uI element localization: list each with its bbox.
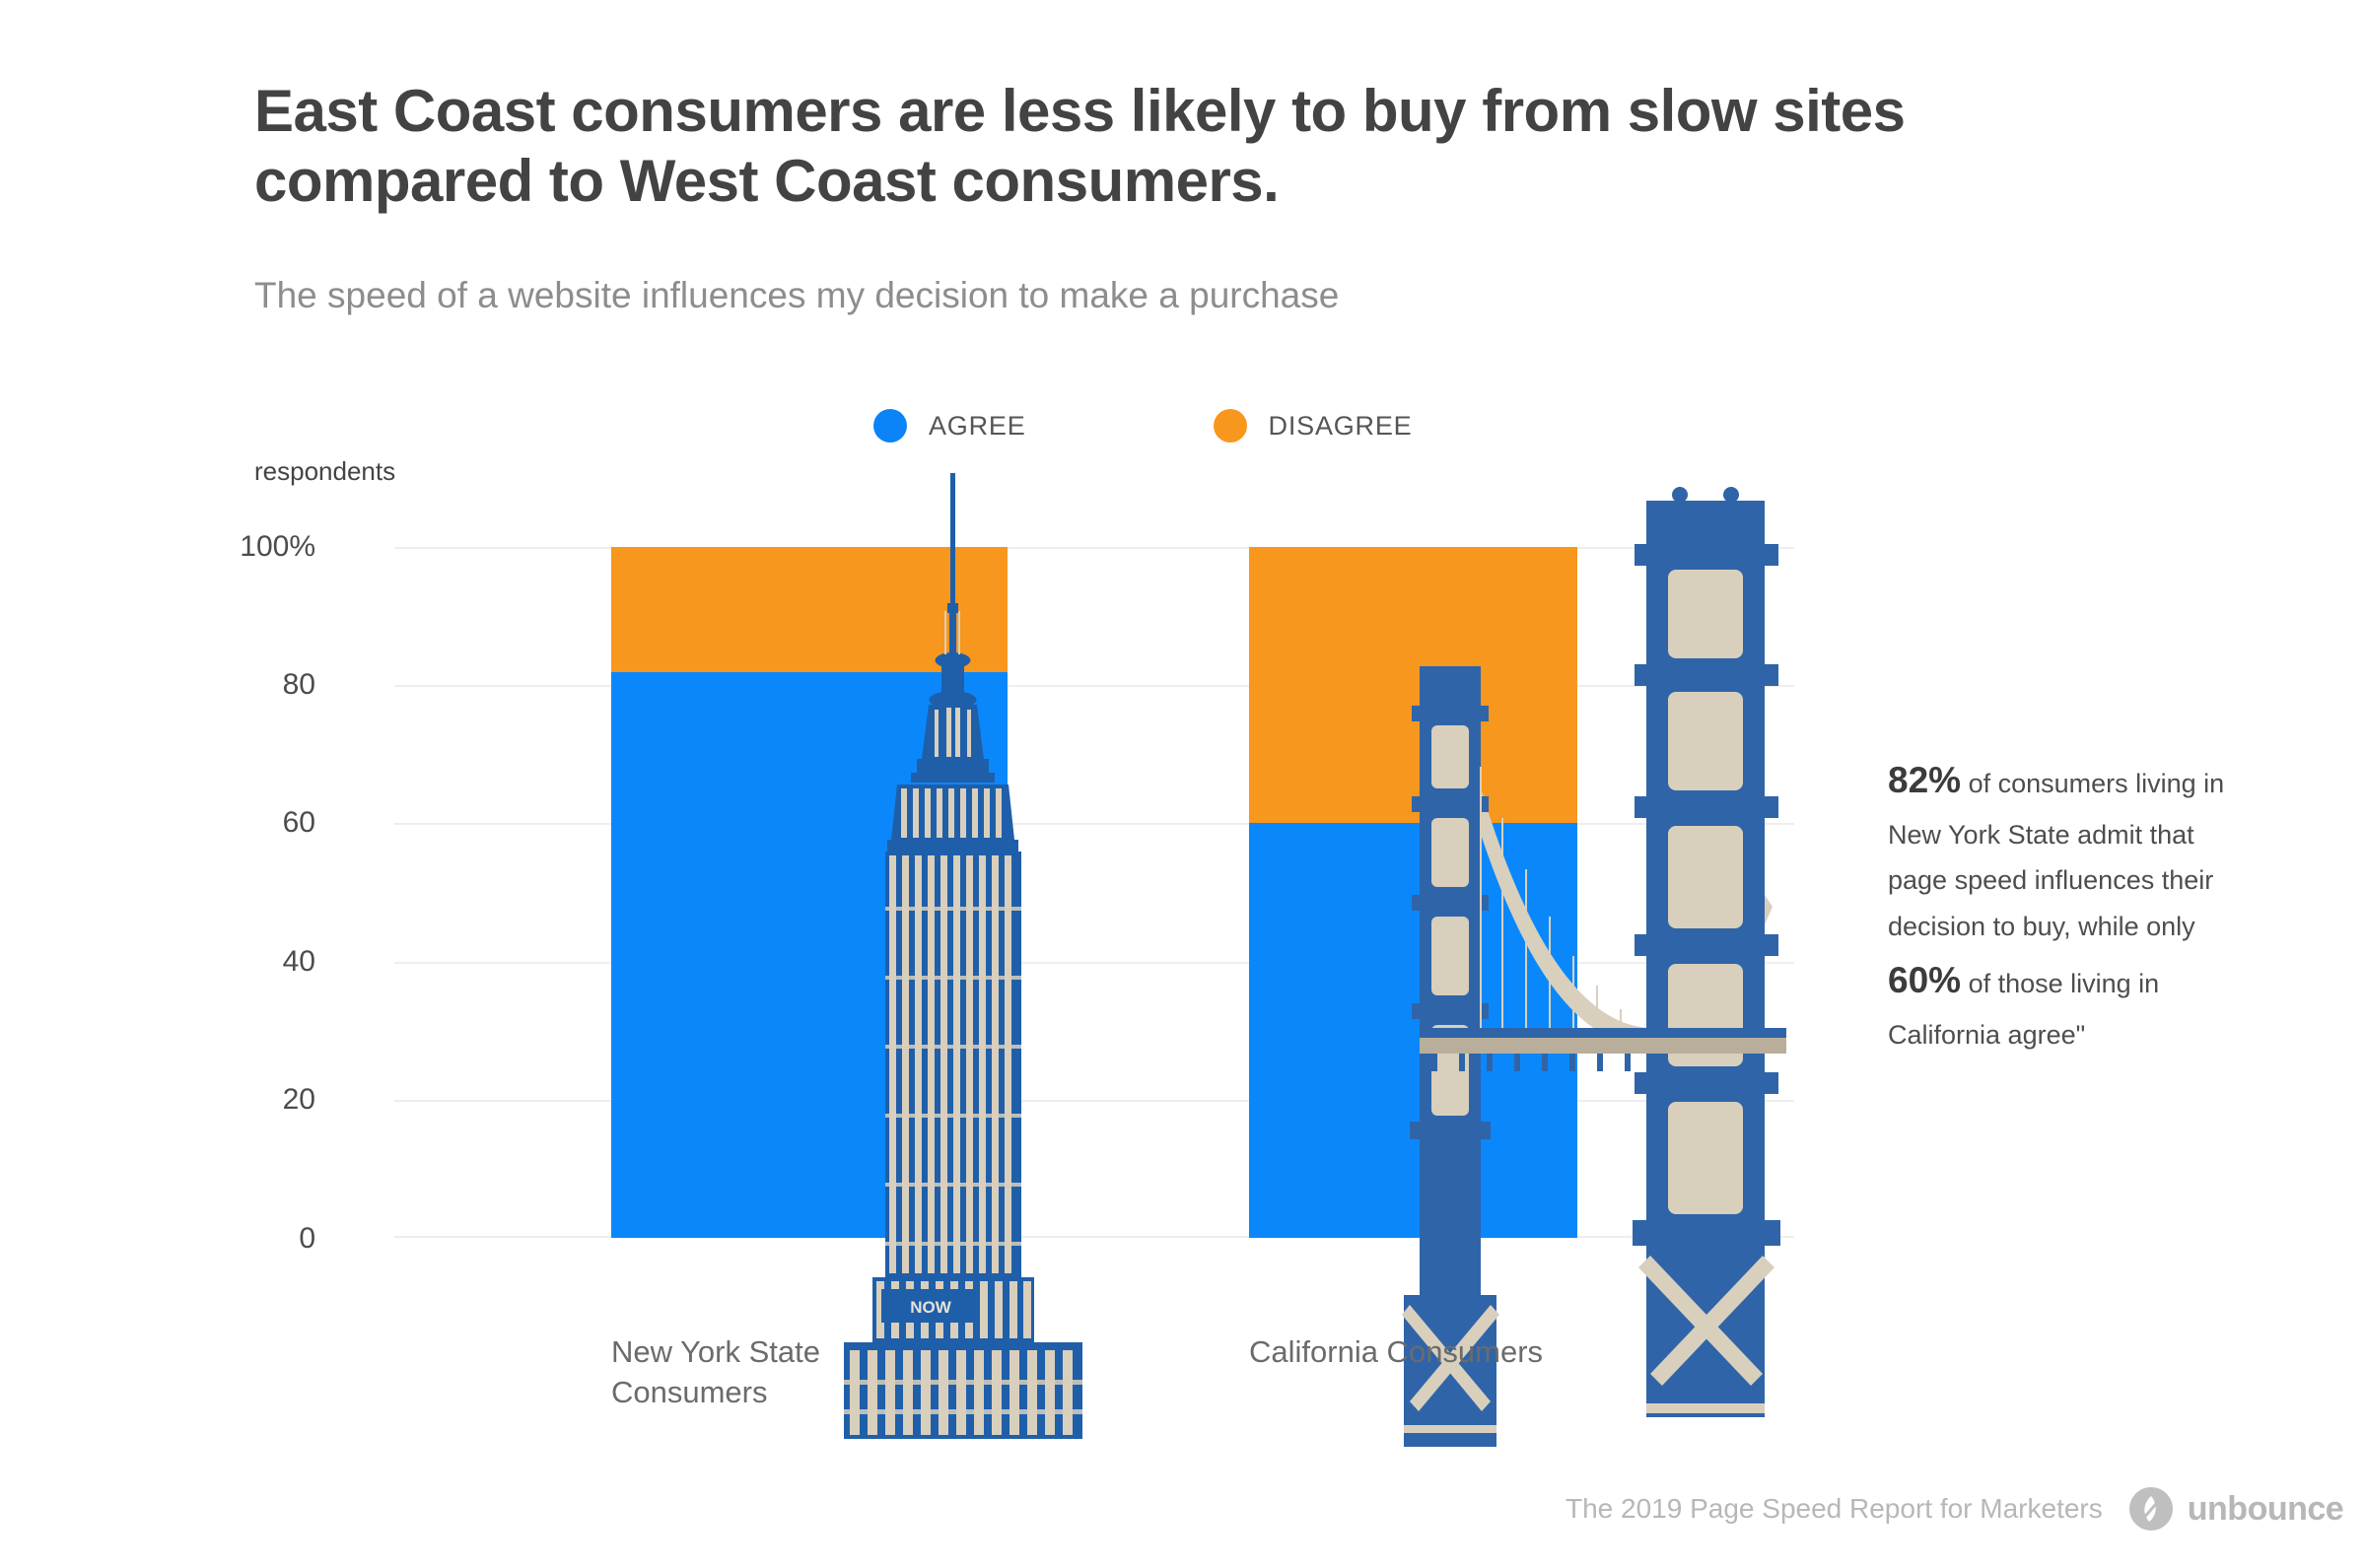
legend-label-disagree: DISAGREE (1269, 411, 1413, 442)
empire-state-building-illustration: NOW (826, 463, 1082, 1439)
annotation-stat-ny: 82% (1888, 760, 1961, 800)
unbounce-wordmark: unbounce (2188, 1490, 2343, 1529)
unbounce-circle-icon (2128, 1486, 2174, 1532)
page-title: East Coast consumers are less likely to … (254, 77, 1970, 217)
y-axis-title: respondents (254, 456, 395, 487)
legend-item-disagree[interactable]: DISAGREE (1214, 409, 1413, 443)
legend-label-agree: AGREE (929, 411, 1026, 442)
golden-gate-bridge-illustration (1333, 471, 1786, 1447)
footer-report-title: The 2019 Page Speed Report for Marketers (1566, 1493, 2103, 1525)
chart-legend: AGREE DISAGREE (873, 409, 1412, 443)
svg-text:NOW: NOW (910, 1298, 952, 1317)
y-tick-label-60: 60 (138, 808, 315, 838)
y-tick-label-40: 40 (138, 947, 315, 977)
infographic-page: East Coast consumers are less likely to … (0, 0, 2366, 1568)
legend-item-agree[interactable]: AGREE (873, 409, 1026, 443)
annotation-callout: 82% of consumers living in New York Stat… (1888, 749, 2243, 1057)
y-tick-label-20: 20 (138, 1085, 315, 1115)
x-axis-label-new-york: New York State Consumers (611, 1332, 937, 1413)
y-tick-label-0: 0 (138, 1224, 315, 1254)
page-subtitle: The speed of a website influences my dec… (254, 272, 1930, 319)
x-axis-label-california: California Consumers (1249, 1332, 1545, 1373)
annotation-stat-ca: 60% (1888, 960, 1961, 1000)
y-tick-label-100: 100% (138, 532, 315, 562)
legend-swatch-disagree-icon (1214, 409, 1247, 443)
y-tick-label-80: 80 (138, 670, 315, 700)
unbounce-logo[interactable]: unbounce (2128, 1486, 2343, 1532)
footer: The 2019 Page Speed Report for Marketers… (1566, 1486, 2343, 1532)
legend-swatch-agree-icon (873, 409, 907, 443)
